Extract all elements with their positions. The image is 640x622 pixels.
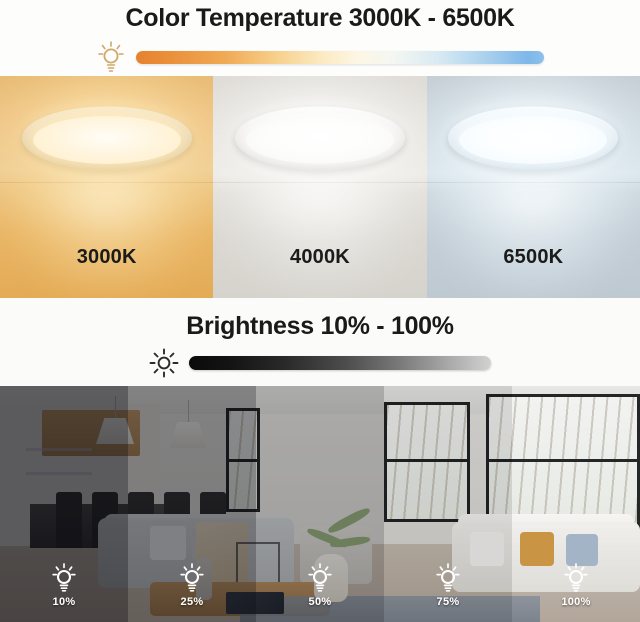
bulb-icon [563, 563, 589, 593]
bulb-icon [51, 563, 77, 593]
bulb-icon [96, 40, 126, 74]
brightness-label: 75% [437, 596, 460, 608]
lamp-panel-6500k: 6500K [427, 76, 640, 298]
living-room-scene: 10% [0, 386, 640, 622]
light-pool [2, 176, 212, 296]
light-pool [428, 176, 638, 296]
ceiling-light-diffuser [459, 116, 607, 164]
brightness-label: 10% [53, 596, 76, 608]
lamp-label-6500k: 6500K [427, 246, 640, 269]
lamp-label-4000k: 4000K [213, 246, 426, 269]
color-temperature-scale [0, 40, 640, 74]
brightness-label: 50% [309, 596, 332, 608]
brightness-title: Brightness 10% - 100% [0, 298, 640, 341]
bulb-icon [307, 563, 333, 593]
color-temperature-panels: 3000K 4000K 6500K [0, 76, 640, 298]
ceiling-light-diffuser [33, 116, 181, 164]
brightness-markers: 10% [0, 386, 640, 622]
lamp-panel-3000k: 3000K [0, 76, 213, 298]
lamp-label-3000k: 3000K [0, 246, 213, 269]
brightness-marker-100[interactable]: 100% [512, 386, 640, 622]
color-temperature-gradient-bar[interactable] [136, 51, 544, 64]
brightness-label: 100% [561, 596, 590, 608]
ceiling-light-diffuser [246, 116, 394, 164]
color-temperature-title: Color Temperature 3000K - 6500K [0, 0, 640, 33]
brightness-label: 25% [181, 596, 204, 608]
bulb-icon [179, 563, 205, 593]
brightness-marker-50[interactable]: 50% [256, 386, 384, 622]
bulb-icon [435, 563, 461, 593]
brightness-marker-25[interactable]: 25% [128, 386, 256, 622]
brightness-scale [0, 348, 640, 378]
color-temperature-section: Color Temperature 3000K - 6500K [0, 0, 640, 76]
sun-icon [149, 348, 179, 378]
lamp-panel-4000k: 4000K [213, 76, 426, 298]
brightness-gradient-bar[interactable] [189, 356, 491, 370]
brightness-marker-10[interactable]: 10% [0, 386, 128, 622]
brightness-section: Brightness 10% - 100% [0, 298, 640, 386]
brightness-marker-75[interactable]: 75% [384, 386, 512, 622]
product-feature-image: Color Temperature 3000K - 6500K [0, 0, 640, 622]
light-pool [215, 176, 425, 296]
